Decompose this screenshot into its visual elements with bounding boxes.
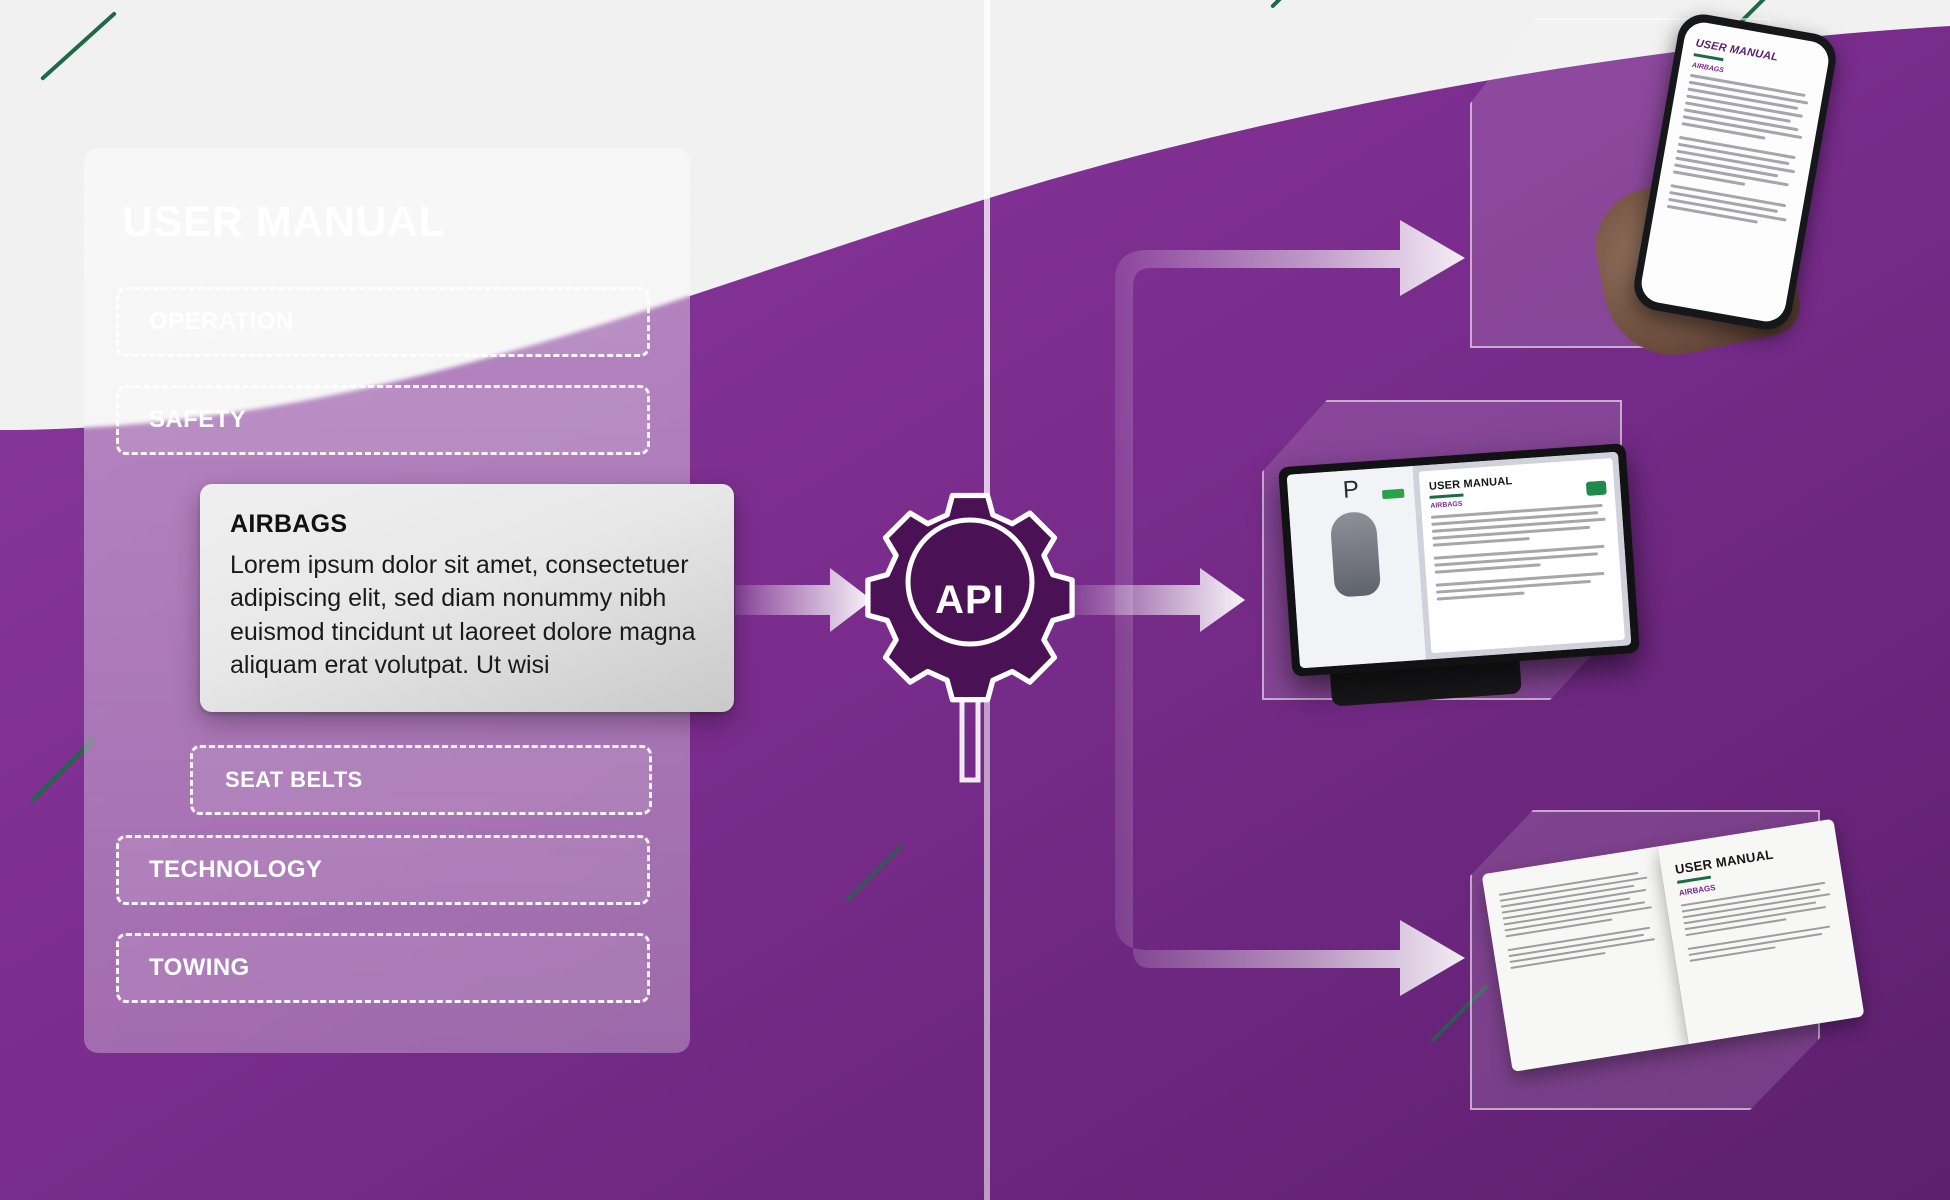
sidebar-item-label: TECHNOLOGY (149, 856, 322, 884)
sidebar-item-technology[interactable]: TECHNOLOGY (116, 835, 650, 905)
sidebar-item-safety[interactable]: SAFETY (116, 385, 650, 455)
detail-card-title: AIRBAGS (230, 510, 704, 539)
sidebar-item-seat-belts[interactable]: SEAT BELTS (190, 745, 652, 815)
battery-indicator (1382, 489, 1405, 500)
car-doc-rule (1430, 494, 1464, 499)
api-label: API (870, 500, 1070, 700)
sidebar-item-operation[interactable]: OPERATION (116, 287, 650, 357)
car-doc-title: USER MANUAL (1429, 469, 1605, 493)
car-document-pane: USER MANUAL AIRBAGS (1412, 452, 1631, 660)
car-document: USER MANUAL AIRBAGS (1419, 458, 1625, 653)
sidebar-item-label: SAFETY (149, 406, 246, 434)
api-hub[interactable]: API (870, 500, 1070, 700)
sidebar-item-label: SEAT BELTS (225, 767, 363, 793)
book-doc-rule (1677, 876, 1711, 884)
car-status-pane: P (1287, 466, 1426, 668)
sidebar-item-label: TOWING (149, 954, 250, 982)
car-screen: P USER MANUAL AIRBAGS (1287, 452, 1632, 669)
book-page-left (1482, 847, 1689, 1072)
diagram-canvas: USER MANUAL OPERATION SAFETY SEAT BELTS … (0, 0, 1950, 1200)
page-title: USER MANUAL (122, 198, 445, 247)
car-doc-action-button[interactable] (1586, 481, 1607, 496)
sidebar-item-towing[interactable]: TOWING (116, 933, 650, 1003)
phone-doc-rule (1694, 53, 1724, 61)
sidebar-item-label: OPERATION (149, 308, 294, 336)
car-top-view-icon (1330, 511, 1382, 598)
detail-card-body: Lorem ipsum dolor sit amet, consectetuer… (230, 549, 704, 682)
car-infotainment-icon[interactable]: P USER MANUAL AIRBAGS (1278, 443, 1640, 677)
airbags-detail-card[interactable]: AIRBAGS Lorem ipsum dolor sit amet, cons… (200, 484, 734, 712)
book-page-right: USER MANUAL AIRBAGS (1657, 819, 1864, 1044)
